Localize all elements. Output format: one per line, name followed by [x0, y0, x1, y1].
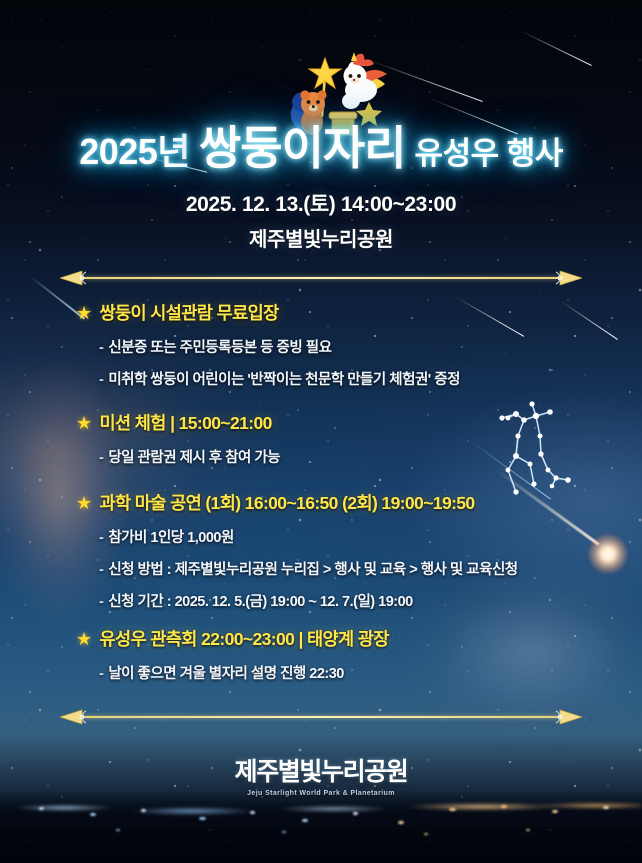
frame-bar: [82, 716, 560, 718]
section-mission-experience: ★ 미션 체험 | 15:00~21:00 -당일 관람권 제시 후 참여 가능: [60, 410, 582, 467]
section-item: -당일 관람권 제시 후 참여 가능: [99, 446, 582, 467]
section-item: -미취학 쌍둥이 어린이는 '반짝이는 천문학 만들기 체험권' 증정: [99, 368, 582, 389]
poster-subtitle: 2025. 12. 13.(토) 14:00~23:00 제주별빛누리공원: [0, 188, 642, 252]
section-free-admission: ★ 쌍둥이 시설관람 무료입장 -신분증 또는 주민등록등본 등 증빙 필요 -…: [60, 300, 582, 389]
arrow-right-icon: [552, 270, 582, 286]
city-lights: [0, 791, 642, 863]
logo-korean-name: 제주별빛누리공원: [0, 752, 642, 788]
dash-marker: -: [99, 562, 103, 578]
section-item-text: 신분증 또는 주민등록등본 등 증빙 필요: [108, 340, 331, 356]
section-heading-text: 과학 마술 공연 (1회) 16:00~16:50 (2회) 19:00~19:…: [100, 490, 475, 515]
title-tail: 유성우 행사: [415, 128, 563, 173]
section-heading-text: 쌍둥이 시설관람 무료입장: [100, 300, 279, 325]
arrow-left-icon: [60, 709, 90, 725]
section-science-magic-show: ★ 과학 마술 공연 (1회) 16:00~16:50 (2회) 19:00~1…: [60, 490, 582, 611]
dash-marker: -: [99, 372, 103, 388]
dash-marker: -: [99, 530, 103, 546]
content-panel: ★ 쌍둥이 시설관람 무료입장 -신분증 또는 주민등록등본 등 증빙 필요 -…: [60, 288, 582, 708]
section-meteor-observation: ★ 유성우 관측회 22:00~23:00 | 태양계 광장 -날이 좋으면 겨…: [60, 626, 582, 683]
star-bullet-icon: ★: [76, 630, 92, 648]
title-year: 2025년: [79, 123, 190, 175]
dash-marker: -: [99, 666, 103, 682]
star-bullet-icon: ★: [76, 414, 92, 432]
section-item: -신청 방법 : 제주별빛누리공원 누리집 > 행사 및 교육 > 행사 및 교…: [99, 558, 582, 579]
event-datetime: 2025. 12. 13.(토) 14:00~23:00: [0, 188, 642, 218]
section-item: -신청 기간 : 2025. 12. 5.(금) 19:00 ~ 12. 7.(…: [99, 590, 582, 611]
section-item-text: 날이 좋으면 겨울 별자리 설명 진행 22:30: [108, 666, 344, 682]
section-item-text: 당일 관람권 제시 후 참여 가능: [108, 450, 280, 466]
frame-bar: [82, 277, 560, 279]
section-heading: ★ 미션 체험 | 15:00~21:00: [60, 410, 582, 435]
section-heading: ★ 쌍둥이 시설관람 무료입장: [60, 300, 582, 325]
section-item: -참가비 1인당 1,000원: [99, 526, 582, 547]
section-heading: ★ 유성우 관측회 22:00~23:00 | 태양계 광장: [60, 626, 582, 651]
section-heading-text: 미션 체험 | 15:00~21:00: [100, 410, 272, 435]
section-heading-text: 유성우 관측회 22:00~23:00 | 태양계 광장: [100, 626, 389, 651]
title-main: 쌍둥이자리: [199, 112, 406, 178]
section-item: -신분증 또는 주민등록등본 등 증빙 필요: [99, 336, 582, 357]
section-item-text: 신청 기간 : 2025. 12. 5.(금) 19:00 ~ 12. 7.(일…: [108, 594, 412, 610]
arrow-left-icon: [60, 270, 90, 286]
poster-header: 2025년 쌍둥이자리 유성우 행사 2025. 12. 13.(토) 14:0…: [0, 0, 642, 250]
frame-divider-top: [60, 268, 582, 288]
section-item-text: 미취학 쌍둥이 어린이는 '반짝이는 천문학 만들기 체험권' 증정: [108, 372, 460, 388]
dash-marker: -: [99, 594, 103, 610]
event-venue: 제주별빛누리공원: [0, 223, 642, 252]
poster-title: 2025년 쌍둥이자리 유성우 행사: [0, 112, 642, 178]
poster-root: 2025년 쌍둥이자리 유성우 행사 2025. 12. 13.(토) 14:0…: [0, 0, 642, 863]
night-cityscape: [0, 791, 642, 863]
dash-marker: -: [99, 450, 103, 466]
section-item: -날이 좋으면 겨울 별자리 설명 진행 22:30: [99, 662, 582, 683]
section-item-text: 참가비 1인당 1,000원: [108, 530, 233, 546]
dash-marker: -: [99, 340, 103, 356]
star-bullet-icon: ★: [76, 494, 92, 512]
section-heading: ★ 과학 마술 공연 (1회) 16:00~16:50 (2회) 19:00~1…: [60, 490, 582, 515]
frame-divider-bottom: [60, 707, 582, 727]
arrow-right-icon: [552, 709, 582, 725]
star-bullet-icon: ★: [76, 304, 92, 322]
section-item-text: 신청 방법 : 제주별빛누리공원 누리집 > 행사 및 교육 > 행사 및 교육…: [108, 562, 517, 578]
